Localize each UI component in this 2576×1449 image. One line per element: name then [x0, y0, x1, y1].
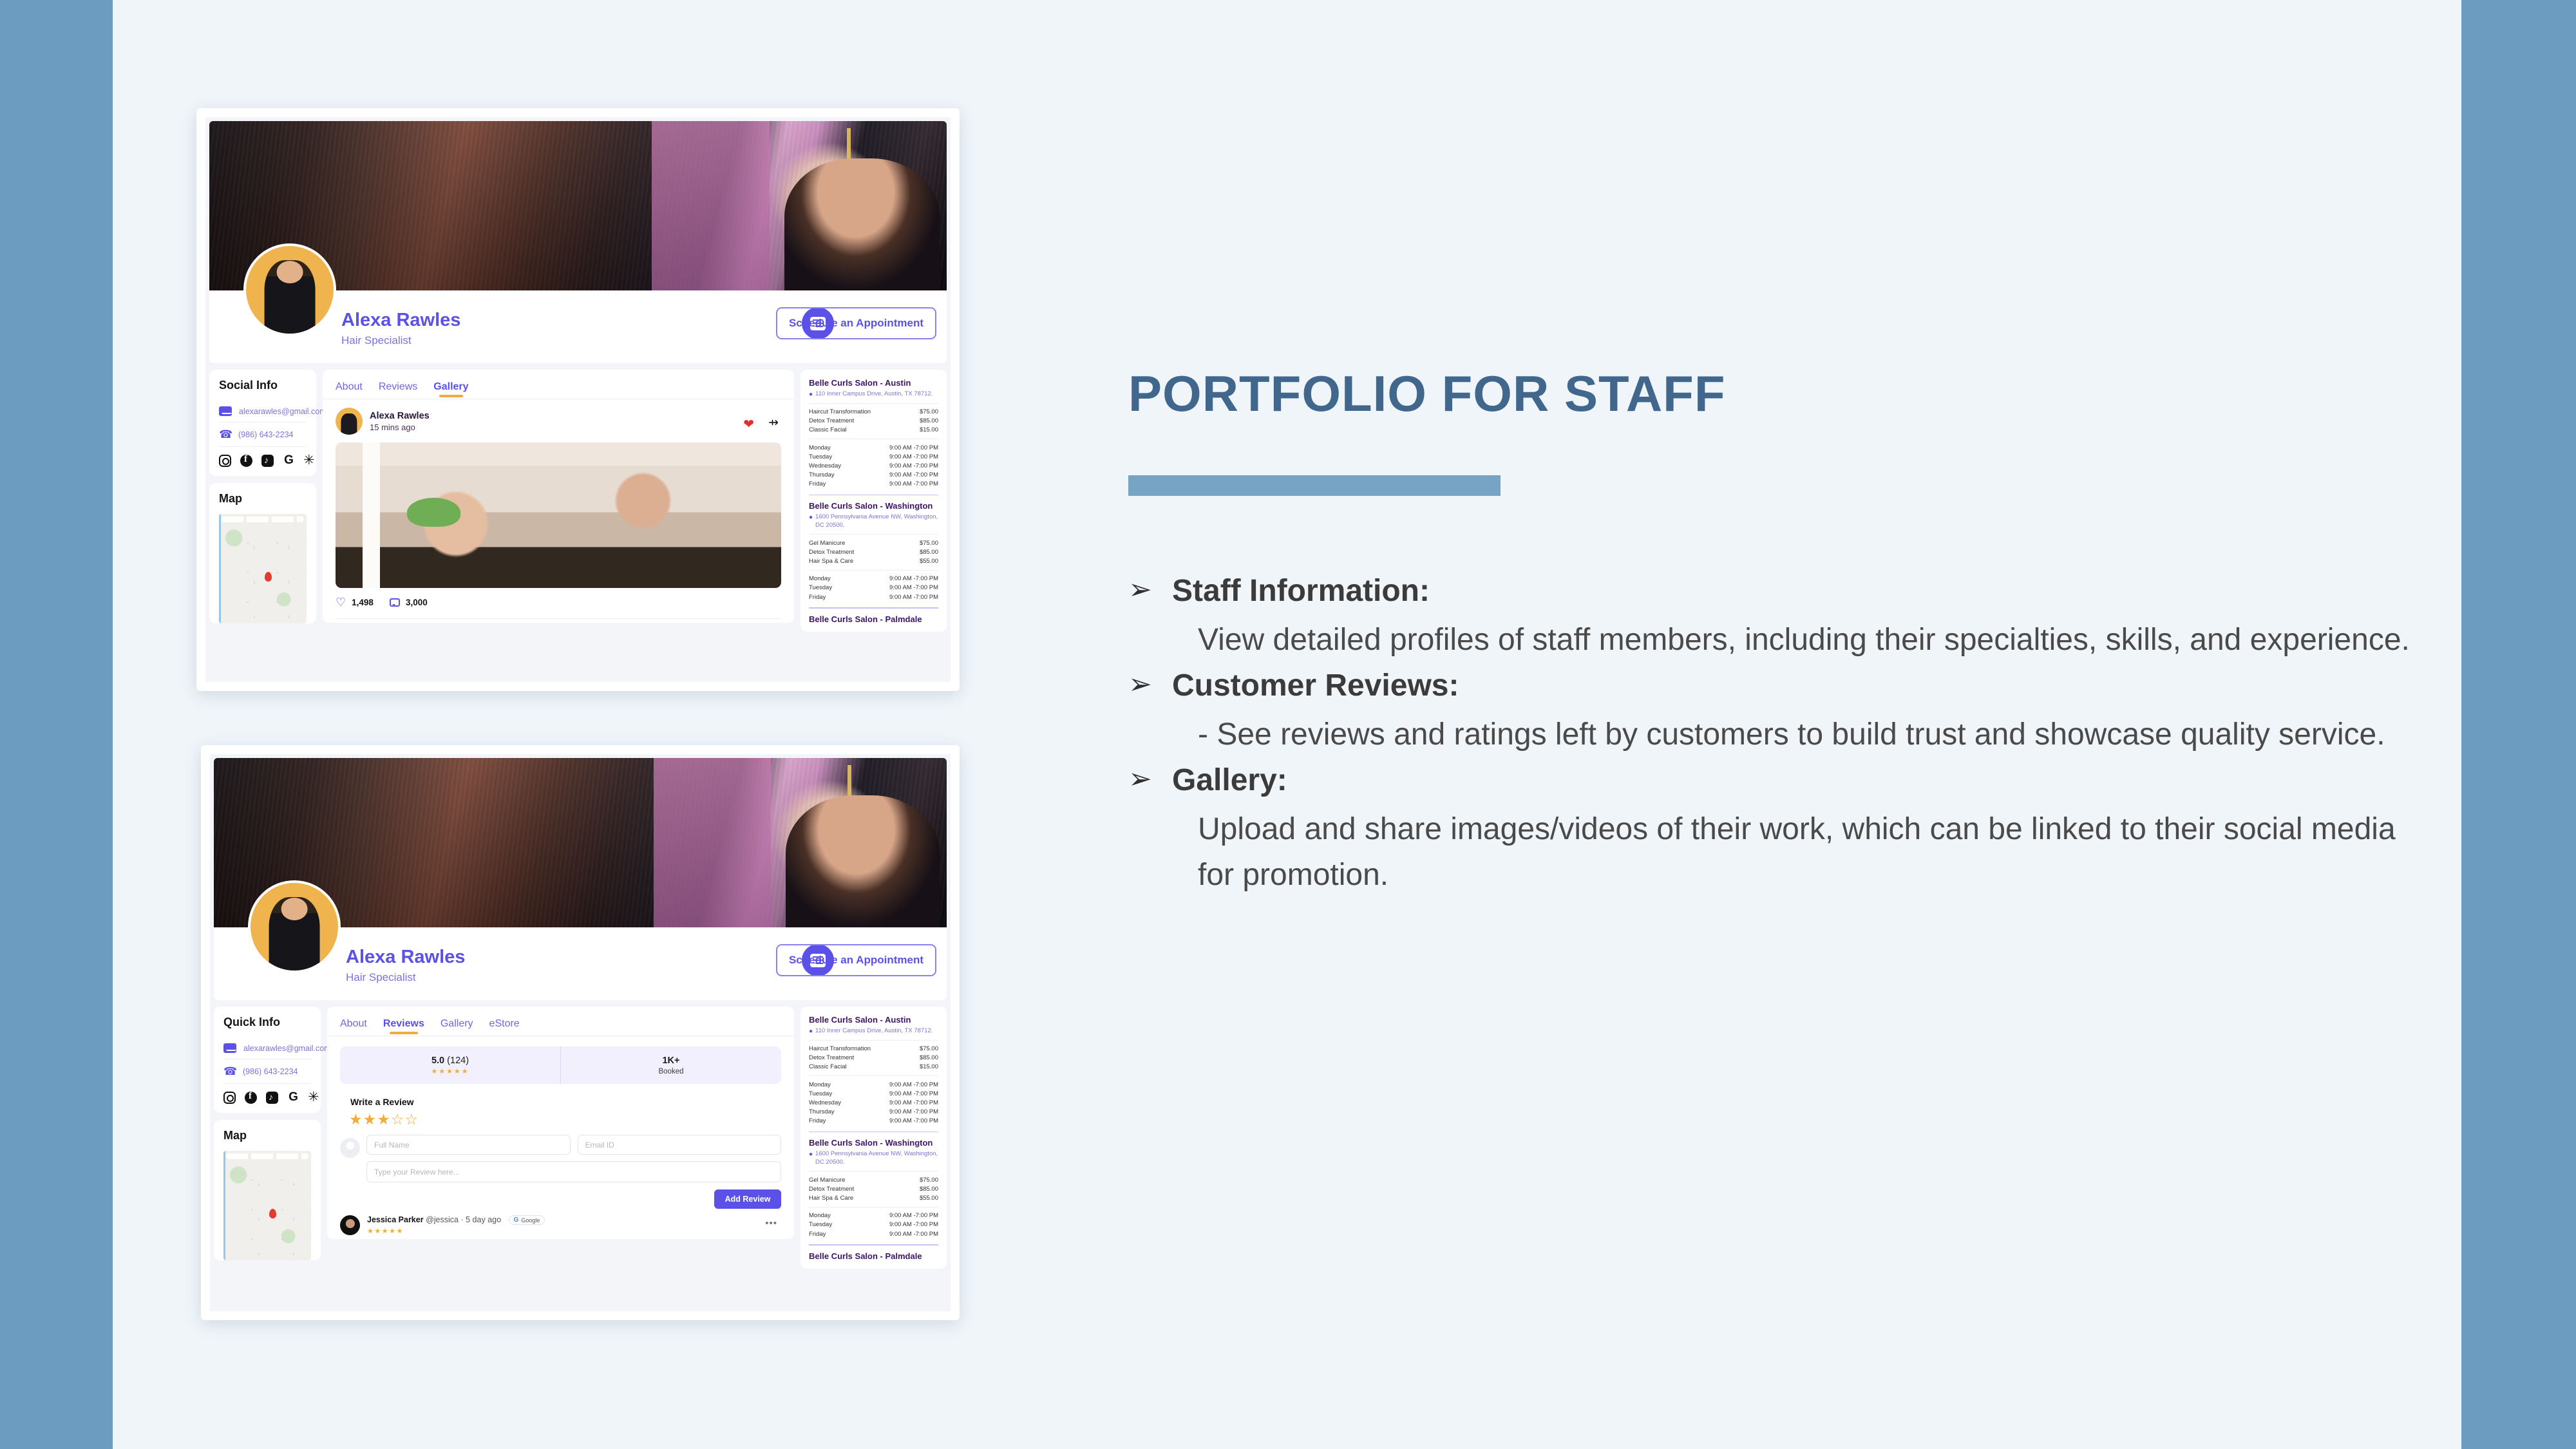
bullet-title: Gallery:: [1172, 761, 1287, 800]
review-time: 5 day ago: [466, 1215, 501, 1224]
bullet-body: - See reviews and ratings left by custom…: [1198, 705, 2429, 757]
map-card: Map: [209, 483, 316, 623]
rating-stars: ★★★★★: [431, 1067, 469, 1075]
tab-divider: [327, 1036, 794, 1036]
hours-row: Thursday9:00 AM -7:00 PM: [809, 471, 938, 480]
salon-name: Belle Curls Salon - Palmdale: [809, 614, 938, 624]
email-value: alexarawles@gmail.com: [243, 1044, 331, 1053]
stars-empty: ☆☆: [391, 1111, 419, 1128]
rating-score-block: 5.0 (124) ★★★★★: [340, 1046, 560, 1084]
post-stats: ♡ 1,498 3,000: [323, 588, 794, 618]
review-item: Jessica Parker @jessica · 5 day ago GGoo…: [327, 1209, 794, 1235]
tab-estore[interactable]: eStore: [489, 1018, 520, 1034]
hours-row: Thursday9:00 AM -7:00 PM: [809, 1108, 938, 1117]
schedule-appointment-button[interactable]: Schedule an Appointment: [776, 307, 936, 339]
hours-row: Tuesday9:00 AM -7:00 PM: [809, 1220, 938, 1229]
salon-austin: Belle Curls Salon - Austin ● 110 Inner C…: [809, 378, 938, 495]
hours-row: Monday9:00 AM -7:00 PM: [809, 443, 938, 452]
salon-list-card-top: Belle Curls Salon - Austin ● 110 Inner C…: [800, 370, 947, 632]
review-stars: ★★★★★: [367, 1227, 545, 1235]
page-title: Alexa Rawles: [341, 310, 460, 331]
yelp-icon[interactable]: [308, 1092, 321, 1104]
map-pin-icon: [269, 1209, 276, 1218]
salon-address: ● 1600 Pennsylvania Avenue NW, Washingto…: [809, 513, 938, 530]
bullet-customer-reviews: ➢ Customer Reviews: - See reviews and ra…: [1128, 667, 2429, 757]
right-accent-bar: [2461, 0, 2576, 1449]
email-input[interactable]: Email ID: [578, 1135, 782, 1155]
hours-row: Friday9:00 AM -7:00 PM: [809, 1117, 938, 1126]
reviewer-avatar-placeholder: [340, 1138, 360, 1158]
facebook-icon[interactable]: [245, 1092, 257, 1104]
map-heading: Map: [219, 492, 307, 506]
hours-row: Wednesday9:00 AM -7:00 PM: [809, 461, 938, 470]
map-image[interactable]: [219, 514, 307, 623]
salon-name: Belle Curls Salon - Palmdale: [809, 1251, 938, 1261]
booked-block: 1K+ Booked: [560, 1046, 781, 1084]
write-review-star-rating[interactable]: ★★★☆☆: [349, 1111, 794, 1128]
google-icon: G: [514, 1217, 519, 1224]
location-pin-icon: ●: [809, 513, 813, 530]
service-row: Detox Treatment$85.00: [809, 1184, 938, 1193]
service-row: Classic Facial$15.00: [809, 426, 938, 435]
hours-row: Friday9:00 AM -7:00 PM: [809, 592, 938, 601]
bullet-body: View detailed profiles of staff members,…: [1198, 611, 2429, 663]
review-separator: ·: [460, 1215, 463, 1224]
phone-row[interactable]: ☎ (986) 643-2234: [223, 1059, 311, 1084]
map-card: Map: [214, 1120, 321, 1260]
tab-about[interactable]: About: [340, 1018, 367, 1034]
hours-row: Monday9:00 AM -7:00 PM: [809, 1211, 938, 1220]
post-timestamp: 15 mins ago: [370, 422, 430, 432]
review-menu-icon[interactable]: •••: [765, 1218, 777, 1229]
social-links: G: [219, 447, 307, 467]
service-row: Gel Manicure$75.00: [809, 538, 938, 547]
post-author: Alexa Rawles: [370, 411, 430, 421]
service-row: Hair Spa & Care$55.00: [809, 1193, 938, 1202]
feed-card-top: About Reviews Gallery Alexa Rawles 15 mi…: [323, 370, 794, 623]
mail-icon: [219, 406, 232, 416]
tab-gallery[interactable]: Gallery: [440, 1018, 473, 1034]
likes-heart-icon[interactable]: ♡: [336, 596, 346, 609]
location-pin-icon: ●: [809, 390, 813, 399]
page-title: Alexa Rawles: [346, 947, 465, 968]
comments-count: 3,000: [406, 598, 428, 607]
post-image: [336, 442, 781, 588]
arrow-bullet-icon: ➢: [1128, 572, 1155, 607]
bullet-list: ➢ Staff Information: View detailed profi…: [1128, 572, 2429, 898]
tab-bar-bottom: About Reviews Gallery eStore: [327, 1007, 794, 1034]
booked-value: 1K+: [662, 1056, 679, 1066]
hours-row: Friday9:00 AM -7:00 PM: [809, 1229, 938, 1238]
tab-about[interactable]: About: [336, 381, 363, 397]
social-info-heading: Social Info: [219, 379, 307, 392]
full-name-input[interactable]: Full Name: [366, 1135, 571, 1155]
bullet-title: Customer Reviews:: [1172, 667, 1459, 705]
hours-row: Friday9:00 AM -7:00 PM: [809, 480, 938, 489]
profile-role: Hair Specialist: [346, 971, 416, 984]
review-source-badge: GGoogle: [509, 1215, 545, 1225]
mail-icon: [223, 1043, 236, 1053]
mockup-screenshot-bottom: Alexa Rawles Hair Specialist Schedule an…: [201, 745, 960, 1320]
phone-icon: ☎: [223, 1065, 236, 1077]
salon-name: Belle Curls Salon - Washington: [809, 501, 938, 511]
bullet-body: Upload and share images/videos of their …: [1198, 800, 2429, 898]
write-review-heading: Write a Review: [350, 1097, 794, 1107]
phone-value: (986) 643-2234: [238, 430, 293, 439]
phone-icon: ☎: [219, 428, 231, 440]
add-review-button[interactable]: Add Review: [714, 1189, 781, 1209]
service-row: Hair Spa & Care$55.00: [809, 556, 938, 565]
yelp-icon[interactable]: [304, 455, 316, 467]
quick-info-card: Quick Info alexarawles@gmail.com ☎ (986)…: [214, 1007, 321, 1113]
tab-gallery[interactable]: Gallery: [433, 381, 468, 397]
post-divider: [336, 618, 781, 619]
tiktok-icon[interactable]: [261, 455, 274, 467]
write-review-form: Full Name Email ID Type your Review here…: [340, 1135, 781, 1209]
salon-austin: Belle Curls Salon - Austin ● 110 Inner C…: [809, 1015, 938, 1132]
slide-content: PORTFOLIO FOR STAFF ➢ Staff Information:…: [1128, 368, 2429, 902]
tab-reviews[interactable]: Reviews: [383, 1018, 424, 1034]
avatar: [248, 880, 341, 973]
tab-bar-top: About Reviews Gallery: [323, 370, 794, 397]
arrow-bullet-icon: ➢: [1128, 761, 1155, 797]
map-image[interactable]: [223, 1151, 311, 1260]
left-accent-bar: [0, 0, 113, 1449]
review-text-input[interactable]: Type your Review here...: [366, 1161, 781, 1182]
booked-label: Booked: [658, 1068, 683, 1075]
salon-list-card-bottom: Belle Curls Salon - Austin ● 110 Inner C…: [800, 1007, 947, 1269]
profile-role: Hair Specialist: [341, 334, 412, 347]
post-header: Alexa Rawles 15 mins ago ❤ ⇸: [323, 399, 794, 440]
arrow-bullet-icon: ➢: [1128, 667, 1155, 702]
salon-address: ● 1600 Pennsylvania Avenue NW, Washingto…: [809, 1150, 938, 1167]
hours-row: Monday9:00 AM -7:00 PM: [809, 1080, 938, 1089]
facebook-icon[interactable]: [240, 455, 252, 467]
rating-score: 5.0: [431, 1056, 444, 1066]
email-row[interactable]: alexarawles@gmail.com: [223, 1037, 311, 1059]
slide-title: PORTFOLIO FOR STAFF: [1128, 368, 2429, 419]
service-row: Haircut Transformation$75.00: [809, 1045, 938, 1054]
salon-washington: Belle Curls Salon - Washington ● 1600 Pe…: [809, 501, 938, 608]
salon-name: Belle Curls Salon - Austin: [809, 1015, 938, 1025]
instagram-icon[interactable]: [219, 455, 231, 467]
bullet-gallery: ➢ Gallery: Upload and share images/video…: [1128, 761, 2429, 898]
hours-row: Wednesday9:00 AM -7:00 PM: [809, 1098, 938, 1107]
service-row: Detox Treatment$85.00: [809, 547, 938, 556]
salon-name: Belle Curls Salon - Austin: [809, 378, 938, 388]
service-row: Haircut Transformation$75.00: [809, 408, 938, 417]
stars-filled: ★★★: [349, 1111, 391, 1128]
post-avatar: [336, 408, 363, 435]
email-row[interactable]: alexarawles@gmail.com: [219, 401, 307, 422]
phone-value: (986) 643-2234: [243, 1067, 298, 1076]
comment-icon[interactable]: [390, 598, 400, 607]
rating-count: (124): [447, 1056, 469, 1066]
title-underline-rule: [1128, 475, 1501, 496]
review-author: Jessica Parker: [367, 1215, 424, 1224]
bullet-title: Staff Information:: [1172, 572, 1430, 611]
reviews-card: About Reviews Gallery eStore 5.0 (124) ★…: [327, 1007, 794, 1239]
hours-row: Tuesday9:00 AM -7:00 PM: [809, 583, 938, 592]
map-filter-chips: [222, 516, 304, 522]
hours-row: Monday9:00 AM -7:00 PM: [809, 574, 938, 583]
salon-address: ● 110 Inner Campus Drive, Austin, TX 787…: [809, 1027, 938, 1036]
email-value: alexarawles@gmail.com: [239, 407, 327, 416]
location-pin-icon: ●: [809, 1150, 813, 1167]
location-pin-icon: ●: [809, 1027, 813, 1036]
hours-row: Tuesday9:00 AM -7:00 PM: [809, 452, 938, 461]
avatar: [243, 243, 336, 336]
profile-header-card-bottom: Alexa Rawles Hair Specialist Schedule an…: [214, 758, 947, 1000]
tab-reviews[interactable]: Reviews: [379, 381, 417, 397]
share-icon[interactable]: ⇸: [768, 415, 779, 430]
social-links: G: [223, 1084, 311, 1104]
social-info-card: Social Info alexarawles@gmail.com ☎ (986…: [209, 370, 316, 476]
like-heart-icon[interactable]: ❤: [743, 416, 754, 432]
service-row: Detox Treatment$85.00: [809, 1054, 938, 1063]
salon-address: ● 110 Inner Campus Drive, Austin, TX 787…: [809, 390, 938, 399]
phone-row[interactable]: ☎ (986) 643-2234: [219, 422, 307, 447]
quick-info-heading: Quick Info: [223, 1016, 311, 1029]
google-icon[interactable]: G: [283, 455, 295, 467]
bullet-staff-information: ➢ Staff Information: View detailed profi…: [1128, 572, 2429, 663]
review-handle: @jessica: [426, 1215, 459, 1224]
rating-summary: 5.0 (124) ★★★★★ 1K+ Booked: [340, 1046, 781, 1084]
service-row: Detox Treatment$85.00: [809, 417, 938, 426]
google-icon[interactable]: G: [287, 1092, 299, 1104]
likes-count: 1,498: [352, 598, 374, 607]
mockup-screenshot-top: Alexa Rawles Hair Specialist Schedule an…: [196, 108, 960, 691]
salon-name: Belle Curls Salon - Washington: [809, 1138, 938, 1148]
profile-header-card-top: Alexa Rawles Hair Specialist Schedule an…: [209, 121, 947, 363]
map-heading: Map: [223, 1129, 311, 1142]
service-row: Classic Facial$15.00: [809, 1063, 938, 1072]
tiktok-icon[interactable]: [266, 1092, 278, 1104]
review-author-avatar: [340, 1215, 360, 1235]
map-pin-icon: [265, 572, 272, 582]
salon-washington: Belle Curls Salon - Washington ● 1600 Pe…: [809, 1138, 938, 1245]
map-filter-chips: [226, 1153, 308, 1159]
service-row: Gel Manicure$75.00: [809, 1175, 938, 1184]
hours-row: Tuesday9:00 AM -7:00 PM: [809, 1089, 938, 1098]
schedule-appointment-button[interactable]: Schedule an Appointment: [776, 944, 936, 976]
instagram-icon[interactable]: [223, 1092, 236, 1104]
